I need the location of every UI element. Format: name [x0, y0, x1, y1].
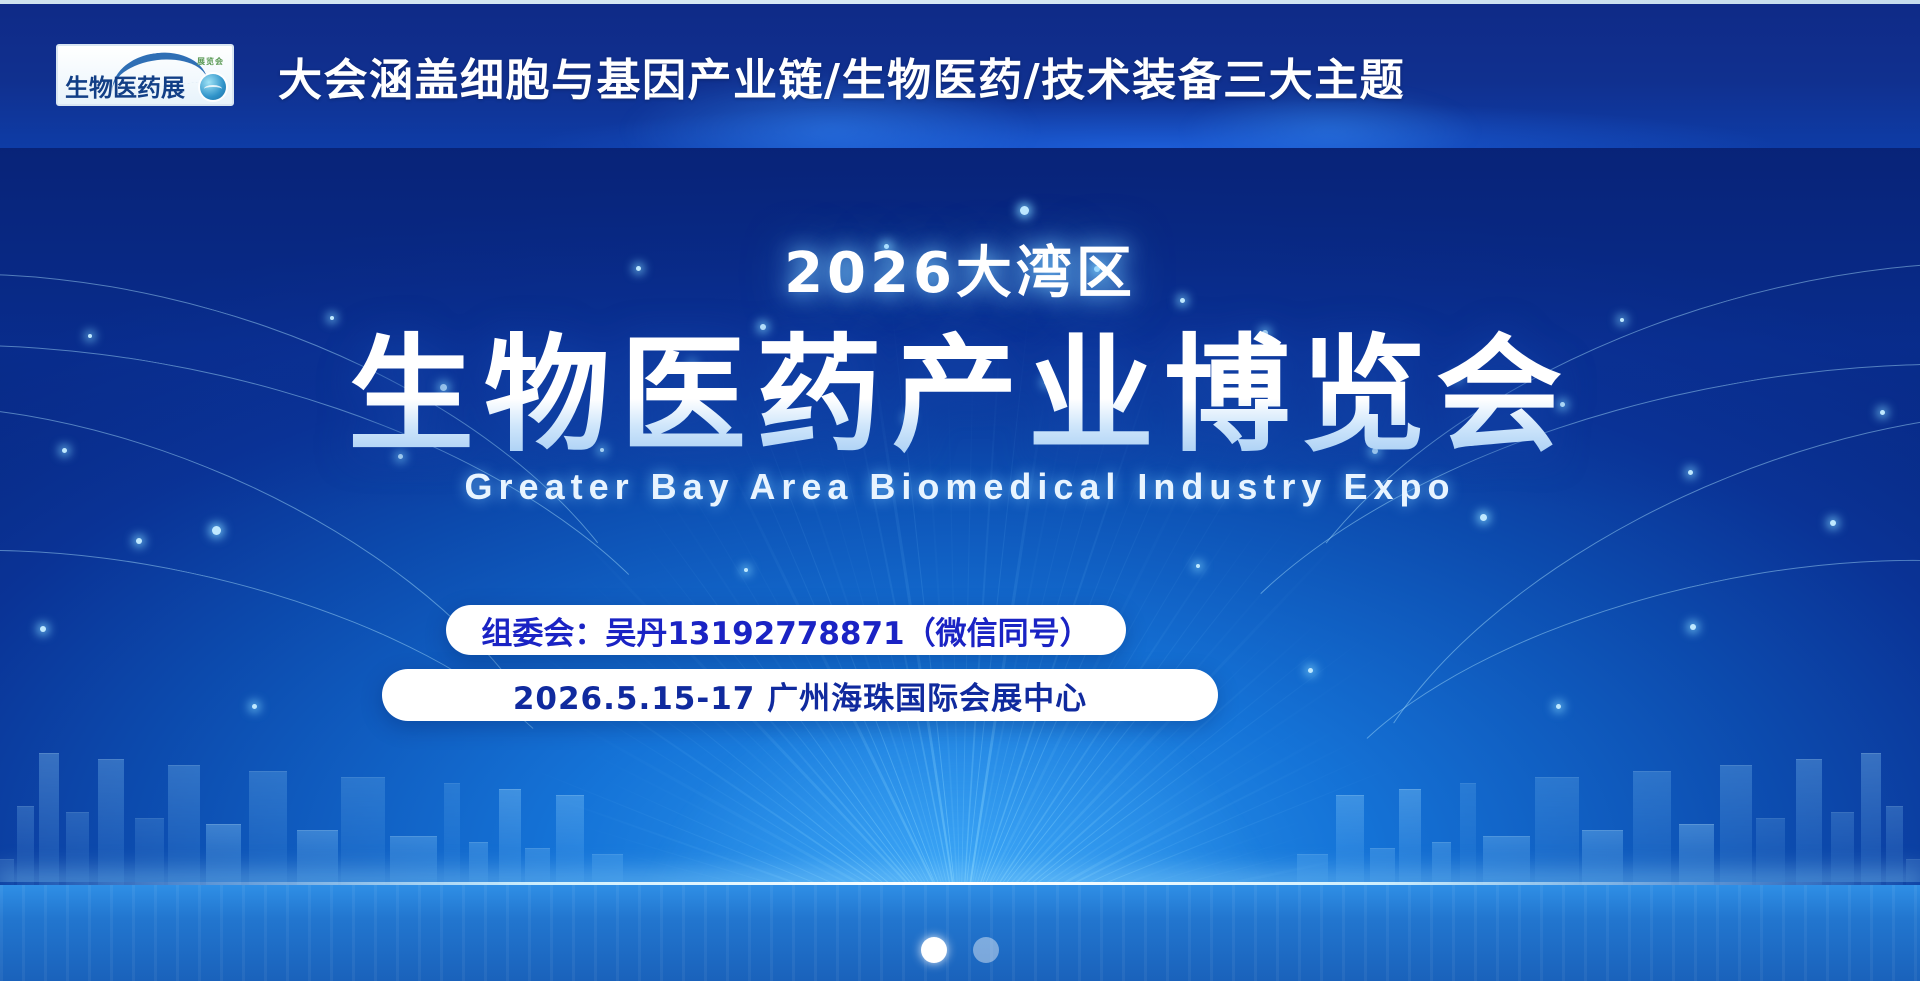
promo-banner-slide: 展览会 生物医药展 大会涵盖细胞与基因产业链/生物医药/技术装备三大主题 202…	[0, 0, 1920, 981]
header-tagline: 大会涵盖细胞与基因产业链/生物医药/技术装备三大主题	[278, 46, 1405, 106]
carousel-dot-1[interactable]	[921, 937, 947, 963]
logo-badge-text: 展览会	[197, 56, 224, 67]
event-year-region: 2026大湾区	[0, 228, 1920, 309]
logo-wordmark: 生物医药展	[58, 76, 185, 104]
globe-icon	[200, 74, 226, 100]
floor-sheen	[0, 885, 1920, 981]
biomedical-expo-logo[interactable]: 展览会 生物医药展	[56, 44, 234, 106]
organizer-contact-pill[interactable]: 组委会：吴丹13192778871（微信同号）	[446, 605, 1126, 655]
event-date-venue-pill[interactable]: 2026.5.15-17 广州海珠国际会展中心	[382, 669, 1218, 721]
event-main-title: 生物医药产业博览会	[0, 328, 1920, 464]
hero-banner[interactable]: 2026大湾区 生物医药产业博览会 Greater Bay Area Biome…	[0, 148, 1920, 981]
reflective-floor	[0, 885, 1920, 981]
carousel-dot-2[interactable]	[973, 937, 999, 963]
swoosh-icon	[108, 47, 207, 92]
header-glow-left	[620, 70, 1040, 148]
top-divider	[0, 0, 1920, 4]
site-header-bar: 展览会 生物医药展 大会涵盖细胞与基因产业链/生物医药/技术装备三大主题	[0, 0, 1920, 148]
event-subtitle-english: Greater Bay Area Biomedical Industry Exp…	[0, 466, 1920, 508]
header-glow-right	[1180, 86, 1480, 148]
carousel-indicators[interactable]	[0, 937, 1920, 963]
